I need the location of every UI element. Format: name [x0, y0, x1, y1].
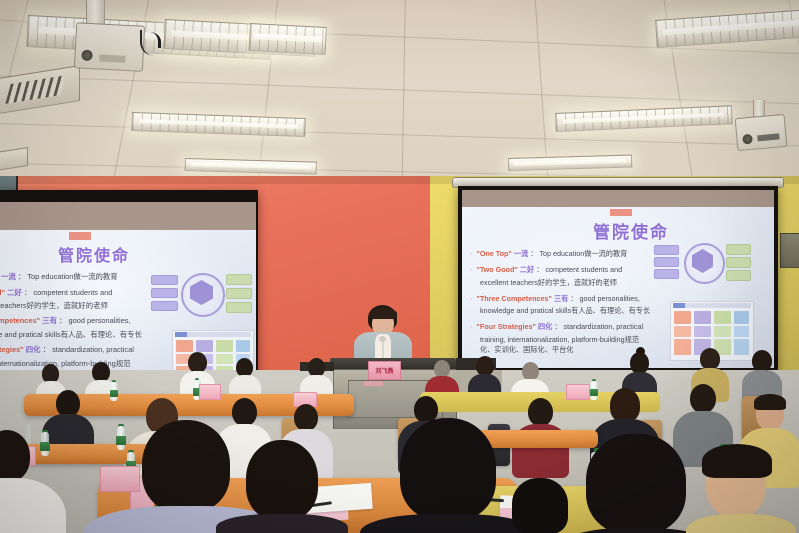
diagram-chip-r-right-3: [726, 270, 751, 281]
audience-person-f4: [246, 440, 318, 520]
fluorescent-troffer-6: [555, 105, 733, 132]
bullet-1-sep: ：: [18, 272, 25, 281]
conference-room-photo: 管院使命 · "One Top" 一流 ： Top education做一流的教…: [0, 0, 799, 533]
slide-bullets-right: · "One Top" 一流 ： Top education做一流的教育 · "…: [470, 249, 676, 355]
bullet-4r-keyword-cn: 四化: [538, 322, 552, 331]
slide-title-left: 管院使命: [58, 242, 130, 266]
fluorescent-troffer-8: [508, 155, 632, 171]
bullet-1-r: · "One Top" 一流 ： Top education做一流的教育: [470, 249, 676, 259]
audience-person-f5: [586, 434, 686, 533]
bullet-3r-sep: ：: [570, 294, 577, 303]
bullet-1r-keyword-cn: 一流: [514, 249, 528, 258]
cassette-ac-vent-far: [0, 147, 28, 172]
bullet-1-rest: Top education做一流的教育: [27, 272, 117, 281]
slide-title-right: 管院使命: [593, 218, 669, 243]
presenter-hair-front: [369, 308, 397, 319]
bullet-2-keyword-en: "Two Good": [0, 288, 5, 297]
audience-person-m3: [232, 398, 257, 426]
bullet-4r-keyword-en: "Four Strategies": [476, 322, 536, 331]
bullet-3: · "Three Competences" 三有 ： good personal…: [0, 316, 202, 327]
bullet-2-sep: ：: [24, 288, 31, 297]
bullet-3r-continuation: knowledge and pratical skills有人品、有理论、有专长: [480, 306, 676, 316]
projector-left: [74, 22, 145, 72]
audience-person-b9: [630, 352, 649, 374]
audience-person-m4: [294, 404, 318, 431]
audience-person-b8: [522, 362, 539, 381]
projector-right: [735, 114, 788, 151]
screen-left-surface: 管院使命 · "One Top" 一流 ： Top education做一流的教…: [0, 230, 256, 384]
pink-name-card-6[interactable]: [100, 466, 140, 492]
screen-right-surface: 管院使命 · "One Top" 一流 ： Top education做一流的教…: [462, 207, 774, 368]
wall-mounted-loudspeaker: [780, 233, 799, 268]
audience-person-b3: [188, 352, 207, 373]
fluorescent-troffer-3: [249, 23, 327, 55]
bullet-2r-keyword-en: "Two Good": [476, 265, 517, 274]
screen-right-header-band: [462, 190, 774, 207]
bullet-1-keyword-cn: 一流: [1, 272, 16, 281]
projection-screen-right: 管院使命 · "One Top" 一流 ： Top education做一流的教…: [458, 186, 778, 372]
diagram-chip-left-3: [151, 301, 178, 311]
audience-person-m8: [690, 384, 716, 413]
audience-person-b7: [476, 356, 494, 376]
fluorescent-troffer-5: [131, 112, 306, 137]
bullet-2-r: · "Two Good" 二好 ： competent students and: [470, 265, 676, 275]
lectern-small-label: [364, 381, 383, 386]
fluorescent-troffer-4: [655, 9, 799, 48]
bullet-2-rest: competent students and: [33, 288, 112, 297]
diagram-chip-r-right-1: [726, 244, 751, 255]
bullet-4-rest: standardization, practical: [52, 345, 134, 354]
bullet-2r-continuation: excellent teachers好的学生，造就好的老师: [480, 278, 676, 288]
bullet-4r-rest: standardization, practical: [564, 322, 644, 331]
bullet-2-keyword-cn: 二好: [7, 288, 22, 297]
audience-person-f6: [706, 452, 766, 518]
bullet-3-sep: ：: [59, 316, 66, 325]
audience-person-b5: [308, 358, 325, 377]
screen-left-header-band: [0, 202, 256, 230]
fluorescent-troffer-7: [185, 158, 317, 175]
bullet-2r-keyword-cn: 二好: [520, 265, 534, 274]
audience-person-b1: [42, 364, 59, 383]
microphone-head: [379, 336, 386, 342]
bullet-3-keyword-cn: 三有: [42, 316, 57, 325]
audience-person-b4: [236, 358, 253, 377]
audience-person-b2: [92, 362, 110, 382]
bullet-4r-continuation: training, internationalization, platform…: [480, 335, 676, 345]
diagram-chip-left-2: [151, 288, 178, 298]
diagram-chip-r-left-1: [654, 245, 679, 255]
projection-screen-left: 管院使命 · "One Top" 一流 ： Top education做一流的教…: [0, 190, 258, 386]
bullet-2r-rest: competent students and: [545, 265, 622, 274]
bullet-3r-rest: good personalities,: [580, 294, 640, 303]
projector-left-cable-2: [142, 32, 161, 48]
diagram-chip-r-left-3: [654, 269, 679, 279]
audience-person-m7: [610, 388, 640, 422]
diagram-chip-left-1: [151, 275, 178, 285]
bullet-4r-sep: ：: [554, 322, 561, 331]
water-bottle-4[interactable]: [40, 430, 50, 456]
audience-person-f3: [400, 418, 496, 520]
bullet-3-rest: good personalities,: [69, 316, 131, 325]
diagram-chip-right-2: [226, 288, 252, 299]
diagram-chip-r-right-2: [726, 257, 751, 268]
audience-person-f1: [0, 430, 30, 482]
cassette-ac-vent: [0, 65, 80, 115]
audience-person-f7: [512, 478, 568, 533]
audience-person-m6: [528, 398, 553, 426]
audience-person-m9: [756, 398, 784, 430]
bullet-4-sep: ：: [43, 345, 50, 354]
diagram-chip-right-3: [226, 302, 252, 313]
bullet-3r-keyword-cn: 三有: [554, 294, 568, 303]
bullet-1r-keyword-en: "One Top": [476, 249, 511, 258]
bullet-2r-sep: ：: [536, 265, 543, 274]
bullet-4-keyword-cn: 四化: [26, 345, 41, 354]
bullet-1r-sep: ：: [530, 249, 537, 258]
pink-name-card-2[interactable]: [566, 384, 590, 400]
slide-accent-bar-left: [69, 232, 91, 240]
audience-person-b6: [434, 360, 450, 378]
presenter-name-placard[interactable]: 刘飞燕: [368, 361, 401, 380]
water-bottle-3[interactable]: [590, 379, 598, 400]
slide-accent-bar-right: [610, 209, 632, 216]
diagram-chip-r-left-2: [654, 257, 679, 267]
bullet-3-keyword-en: "Three Competences": [0, 316, 40, 325]
audience-person-m1: [56, 390, 80, 417]
diagram-chip-right-1: [226, 274, 252, 285]
bullet-4-r: · "Four Strategies" 四化 ： standardization…: [470, 322, 676, 332]
audience-person-b10: [700, 348, 720, 370]
audience-person-b11: [752, 350, 772, 372]
bullet-1r-rest: Top education做一流的教育: [539, 249, 627, 258]
bullet-4-keyword-en: "Four Strategies": [0, 345, 24, 354]
water-bottle-1[interactable]: [110, 380, 118, 401]
ceiling: [0, 0, 799, 200]
audience-person-f2: [142, 420, 230, 512]
bullet-3r-keyword-en: "Three Competences": [476, 294, 552, 303]
bullet-3-r: · "Three Competences" 三有 ： good personal…: [470, 294, 676, 304]
water-bottle-5[interactable]: [116, 424, 126, 450]
pink-name-card-1[interactable]: [199, 384, 221, 400]
